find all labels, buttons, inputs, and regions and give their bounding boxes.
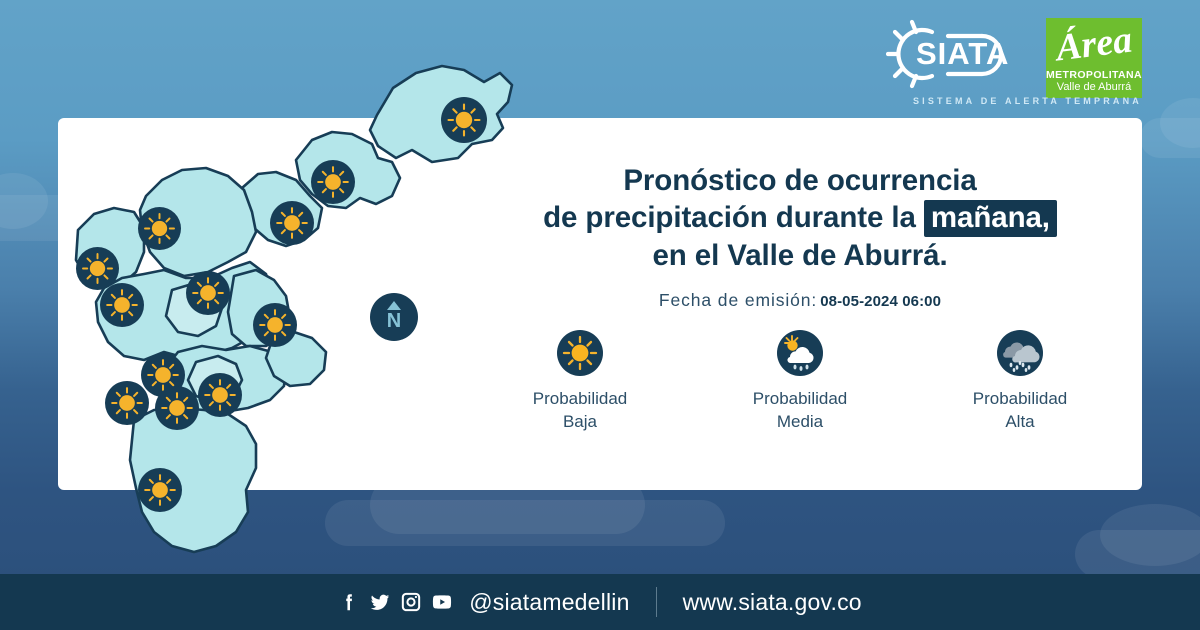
footer-divider bbox=[656, 587, 657, 617]
background-cloud-bottom-right bbox=[1075, 530, 1200, 578]
title-line-1: Pronóstico de ocurrencia bbox=[470, 162, 1130, 199]
sun-icon bbox=[105, 381, 149, 425]
logo-group: SIATA Área METROPOLITANA Valle de Aburrá bbox=[886, 18, 1142, 98]
siata-logo: SIATA bbox=[886, 18, 1036, 90]
instagram-icon[interactable] bbox=[400, 591, 422, 613]
legend-label-baja: Probabilidad Baja bbox=[533, 388, 628, 434]
emission-date: Fecha de emisión:08-05-2024 06:00 bbox=[470, 290, 1130, 311]
sun-icon bbox=[138, 207, 181, 250]
probability-legend: Probabilidad Baja bbox=[470, 330, 1130, 434]
cloud-rain-icon bbox=[997, 330, 1043, 376]
area-script-text: Área bbox=[1044, 16, 1145, 71]
sun-icon bbox=[253, 303, 297, 347]
sun-icon bbox=[138, 468, 182, 512]
headline-block: Pronóstico de ocurrencia de precipitació… bbox=[470, 162, 1130, 311]
compass-north-icon: N bbox=[370, 293, 418, 341]
sun-icon bbox=[441, 97, 487, 143]
sun-icon bbox=[198, 373, 242, 417]
youtube-icon[interactable] bbox=[431, 591, 453, 613]
title-line-2-text: de precipitación durante la bbox=[543, 201, 916, 234]
sun-icon bbox=[557, 330, 603, 376]
legend-item-media: Probabilidad Media bbox=[710, 330, 890, 434]
area-metropolitana-text: METROPOLITANA bbox=[1046, 69, 1142, 81]
footer-bar: @siatamedellin www.siata.gov.co bbox=[0, 574, 1200, 630]
emission-date-label: Fecha de emisión: bbox=[659, 290, 817, 310]
infographic-canvas: SIATA Área METROPOLITANA Valle de Aburrá… bbox=[0, 0, 1200, 630]
area-valle-text: Valle de Aburrá bbox=[1057, 81, 1131, 94]
facebook-icon[interactable] bbox=[338, 591, 360, 613]
compass-letter: N bbox=[370, 311, 418, 331]
tagline: SISTEMA DE ALERTA TEMPRANA bbox=[913, 96, 1142, 106]
social-handle[interactable]: @siatamedellin bbox=[469, 589, 629, 616]
title-line-2: de precipitación durante la mañana, bbox=[470, 199, 1130, 236]
background-cloud-top-right bbox=[1140, 118, 1200, 158]
legend-label-media: Probabilidad Media bbox=[753, 388, 848, 434]
website-url[interactable]: www.siata.gov.co bbox=[683, 589, 862, 616]
legend-item-alta: Probabilidad Alta bbox=[930, 330, 1110, 434]
social-links[interactable] bbox=[338, 591, 453, 613]
siata-wordmark: SIATA bbox=[916, 36, 1009, 72]
sun-cloud-rain-icon bbox=[777, 330, 823, 376]
valle-de-aburra-map: N bbox=[60, 40, 530, 570]
title-highlight: mañana, bbox=[924, 200, 1057, 237]
sun-icon bbox=[270, 201, 314, 245]
legend-label-alta: Probabilidad Alta bbox=[973, 388, 1068, 434]
sun-icon bbox=[155, 386, 199, 430]
sun-icon bbox=[100, 283, 144, 327]
sun-icon bbox=[186, 271, 230, 315]
page-title: Pronóstico de ocurrencia de precipitació… bbox=[470, 162, 1130, 274]
legend-item-baja: Probabilidad Baja bbox=[490, 330, 670, 434]
title-line-3: en el Valle de Aburrá. bbox=[470, 237, 1130, 274]
sun-icon bbox=[311, 160, 355, 204]
compass-arrow bbox=[387, 301, 401, 310]
area-metropolitana-logo: Área METROPOLITANA Valle de Aburrá bbox=[1046, 18, 1142, 98]
emission-date-value: 08-05-2024 06:00 bbox=[820, 293, 941, 310]
twitter-icon[interactable] bbox=[369, 591, 391, 613]
